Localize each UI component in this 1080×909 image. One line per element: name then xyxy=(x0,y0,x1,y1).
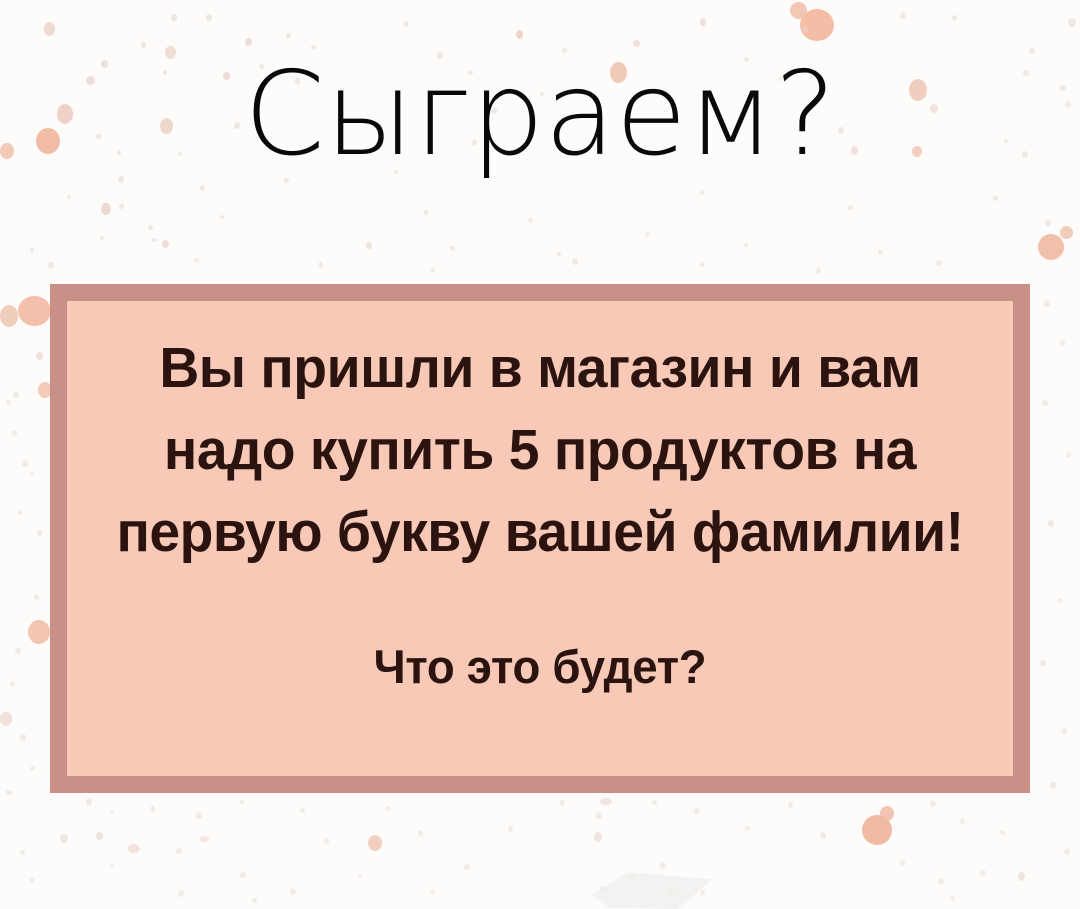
speckle-dot xyxy=(28,620,50,644)
speckle-dot xyxy=(936,260,942,266)
speckle-dot xyxy=(220,215,224,219)
prompt-text: Вы пришли в магазин и вам надо купить 5 … xyxy=(95,327,985,573)
speckle-dot xyxy=(318,262,323,268)
speckle-dot xyxy=(950,896,955,901)
speckle-dot xyxy=(848,205,853,210)
speckle-dot xyxy=(119,204,124,209)
speckle-dot xyxy=(694,808,700,814)
speckle-dot xyxy=(700,190,704,195)
speckle-dot xyxy=(1048,520,1054,527)
speckle-dot xyxy=(816,268,821,274)
speckle-dot xyxy=(366,242,372,249)
speckle-dot xyxy=(162,240,169,248)
speckle-dot xyxy=(200,185,205,191)
speckle-dot xyxy=(1062,728,1067,734)
speckle-dot xyxy=(1066,452,1071,458)
question-text: Что это будет? xyxy=(95,639,985,695)
speckle-dot xyxy=(86,798,92,805)
speckle-dot xyxy=(508,826,513,832)
speckle-dot xyxy=(820,832,826,839)
speckle-dot xyxy=(596,812,602,819)
speckle-dot xyxy=(358,874,362,878)
speckle-dot xyxy=(1058,598,1063,603)
speckle-dot xyxy=(15,648,21,654)
speckle-dot xyxy=(6,400,11,405)
speckle-dot xyxy=(700,262,705,267)
speckle-dot xyxy=(34,595,39,600)
speckle-dot xyxy=(645,232,650,237)
speckle-dot xyxy=(1068,18,1076,27)
speckle-dot xyxy=(0,305,18,327)
speckle-dot xyxy=(430,890,435,895)
speckle-dot xyxy=(1042,400,1048,406)
speckle-dot xyxy=(1050,782,1056,789)
speckle-dot xyxy=(572,258,578,265)
speckle-dot xyxy=(300,808,305,813)
speckle-dot xyxy=(628,874,637,880)
speckle-dot xyxy=(557,252,561,256)
speckle-dot xyxy=(324,838,329,844)
speckle-dot xyxy=(745,826,750,831)
speckle-dot xyxy=(240,800,244,804)
speckle-dot xyxy=(788,802,793,808)
speckle-dot xyxy=(67,195,71,199)
speckle-dot xyxy=(44,22,55,36)
speckle-dot xyxy=(30,248,34,252)
speckle-dot xyxy=(1040,660,1046,666)
speckle-dot xyxy=(633,40,640,47)
speckle-dot xyxy=(30,766,35,771)
speckle-dot xyxy=(418,830,423,836)
speckle-dot xyxy=(1060,226,1073,239)
speckle-dot xyxy=(206,14,212,21)
speckle-dot xyxy=(900,860,905,866)
speckle-dot xyxy=(96,832,103,840)
speckle-dot xyxy=(464,864,470,870)
speckle-dot xyxy=(404,21,409,27)
speckle-dot xyxy=(100,236,104,240)
speckle-dot xyxy=(600,886,606,892)
speckle-dot xyxy=(110,864,114,868)
speckle-dot xyxy=(1064,848,1070,855)
speckle-dot xyxy=(10,681,15,687)
speckle-dot xyxy=(1044,300,1050,307)
speckle-dot xyxy=(516,30,523,39)
speckle-dot xyxy=(128,844,140,853)
prompt-card: Вы пришли в магазин и вам надо купить 5 … xyxy=(50,284,1030,793)
speckle-dot xyxy=(194,258,199,263)
speckle-dot xyxy=(938,878,944,885)
prompt-line-3: первую букву вашей фамилии! xyxy=(95,491,985,573)
prompt-line-1: Вы пришли в магазин и вам xyxy=(95,327,985,409)
speckle-dot xyxy=(652,800,657,805)
speckle-dot xyxy=(290,888,296,895)
speckle-dot xyxy=(368,835,382,851)
speckle-dot xyxy=(790,2,807,19)
speckle-dot xyxy=(6,790,12,795)
speckle-dot xyxy=(668,888,674,896)
speckle-dot xyxy=(900,12,906,19)
speckle-dot xyxy=(450,246,455,251)
speckle-dot xyxy=(18,510,22,515)
speckle-dot xyxy=(110,810,114,814)
speckle-dot xyxy=(252,898,257,903)
speckle-dot xyxy=(960,818,965,824)
speckle-dot xyxy=(20,850,25,855)
prompt-card-content: Вы пришли в магазин и вам надо купить 5 … xyxy=(67,301,1013,776)
page-title: Сыграем? xyxy=(0,52,1080,177)
speckle-dot xyxy=(148,225,153,230)
speckle-dot xyxy=(386,806,391,811)
speckle-dot xyxy=(60,834,68,843)
speckle-dot xyxy=(196,812,202,819)
speckle-dot xyxy=(20,734,26,741)
speckle-dot xyxy=(700,18,706,26)
speckle-dot xyxy=(1045,220,1051,226)
speckle-dot xyxy=(18,296,51,326)
speckle-dot xyxy=(176,848,182,854)
speckle-dot xyxy=(528,218,533,223)
speckle-dot xyxy=(286,33,291,38)
speckle-dot xyxy=(150,806,155,812)
speckle-dot xyxy=(171,14,177,21)
speckle-dot xyxy=(240,872,246,878)
speckle-dot xyxy=(48,262,54,269)
speckle-dot xyxy=(36,352,43,360)
speckle-dot xyxy=(878,250,883,255)
speckle-dot xyxy=(1000,830,1005,835)
speckle-dot xyxy=(1018,872,1025,881)
speckle-dot xyxy=(37,530,42,536)
speckle-dot xyxy=(178,890,184,897)
speckle-dot xyxy=(600,798,612,805)
prompt-line-2: надо купить 5 продуктов на xyxy=(95,409,985,491)
background-artifact-shape xyxy=(592,872,712,909)
speckle-dot xyxy=(1060,340,1065,346)
speckle-dot xyxy=(560,800,565,806)
speckle-dot xyxy=(993,196,998,201)
speckle-dot xyxy=(22,460,28,467)
speckle-dot xyxy=(700,890,705,895)
speckle-dot xyxy=(245,38,252,46)
speckle-dot xyxy=(30,878,34,883)
speckle-dot xyxy=(660,862,666,869)
speckle-dot xyxy=(430,268,435,273)
speckle-dot xyxy=(141,42,146,48)
speckle-dot xyxy=(800,9,834,41)
speckle-dot xyxy=(1038,234,1064,260)
meme-poster: Сыграем? Вы пришли в магазин и вам надо … xyxy=(0,0,1080,909)
speckle-dot xyxy=(101,203,111,215)
speckle-dot xyxy=(30,472,34,476)
speckle-dot xyxy=(802,25,809,33)
speckle-dot xyxy=(594,832,602,842)
speckle-dot xyxy=(152,238,156,242)
speckle-dot xyxy=(952,15,957,21)
speckle-dot xyxy=(13,392,19,398)
speckle-dot xyxy=(200,836,209,842)
speckle-dot xyxy=(930,800,936,807)
speckle-dot xyxy=(880,806,894,821)
speckle-dot xyxy=(862,815,892,845)
speckle-dot xyxy=(0,712,12,726)
speckle-dot xyxy=(12,430,17,436)
speckle-dot xyxy=(980,870,986,876)
speckle-dot xyxy=(744,243,748,247)
speckle-dot xyxy=(424,210,428,215)
